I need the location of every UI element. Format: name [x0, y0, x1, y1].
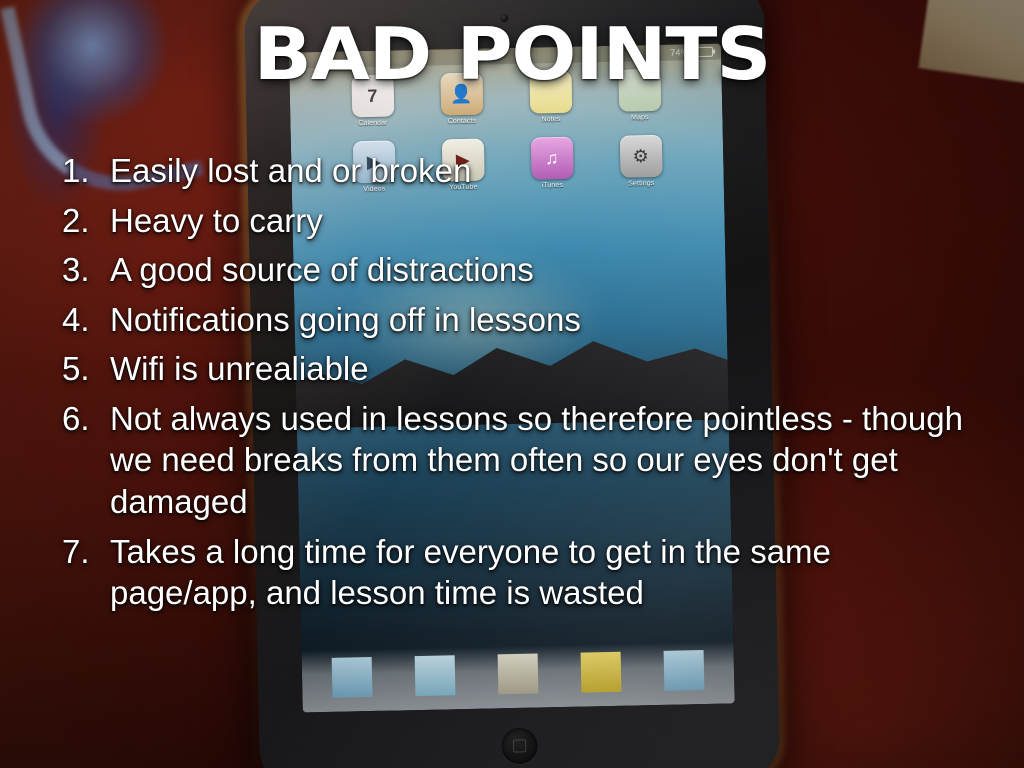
- dock-icon-1[interactable]: [332, 657, 373, 698]
- list-item-number: 3.: [62, 249, 110, 291]
- list-item-number: 5.: [62, 348, 110, 390]
- dock-icon-3[interactable]: [498, 654, 539, 695]
- home-square-icon: [513, 739, 526, 752]
- list-item: 3. A good source of distractions: [62, 249, 982, 291]
- list-item-text: Wifi is unrealiable: [110, 348, 982, 390]
- list-item-number: 6.: [62, 398, 110, 440]
- list-item-text: Notifications going off in lessons: [110, 299, 982, 341]
- list-item: 4. Notifications going off in lessons: [62, 299, 982, 341]
- app-label: Notes: [541, 116, 560, 123]
- dock-icon-5[interactable]: [664, 650, 705, 691]
- slide-canvas: 74% 7 Calendar 👤 Contacts Notes: [0, 0, 1024, 768]
- list-item: 1. Easily lost and or broken: [62, 150, 982, 192]
- list-item-number: 7.: [62, 531, 110, 573]
- dock-shelf: [301, 641, 734, 712]
- list-item: 5. Wifi is unrealiable: [62, 348, 982, 390]
- dock-icon-2[interactable]: [415, 655, 456, 696]
- app-label: Contacts: [448, 118, 477, 126]
- list-item-text: A good source of distractions: [110, 249, 982, 291]
- list-item: 2. Heavy to carry: [62, 200, 982, 242]
- list-item-text: Easily lost and or broken: [110, 150, 982, 192]
- list-item-text: Not always used in lessons so therefore …: [110, 398, 982, 523]
- bad-points-list: 1. Easily lost and or broken 2. Heavy to…: [62, 150, 982, 622]
- list-item-number: 2.: [62, 200, 110, 242]
- list-item-number: 4.: [62, 299, 110, 341]
- list-item-text: Heavy to carry: [110, 200, 982, 242]
- page-title: BAD POINTS: [0, 18, 1024, 90]
- app-label: Calendar: [358, 120, 387, 128]
- home-button[interactable]: [501, 728, 538, 765]
- list-item: 7. Takes a long time for everyone to get…: [62, 531, 982, 614]
- list-item-number: 1.: [62, 150, 110, 192]
- dock-icon-4[interactable]: [581, 652, 622, 693]
- ios-dock: [328, 650, 709, 698]
- list-item: 6. Not always used in lessons so therefo…: [62, 398, 982, 523]
- app-label: Maps: [631, 114, 649, 121]
- list-item-text: Takes a long time for everyone to get in…: [110, 531, 982, 614]
